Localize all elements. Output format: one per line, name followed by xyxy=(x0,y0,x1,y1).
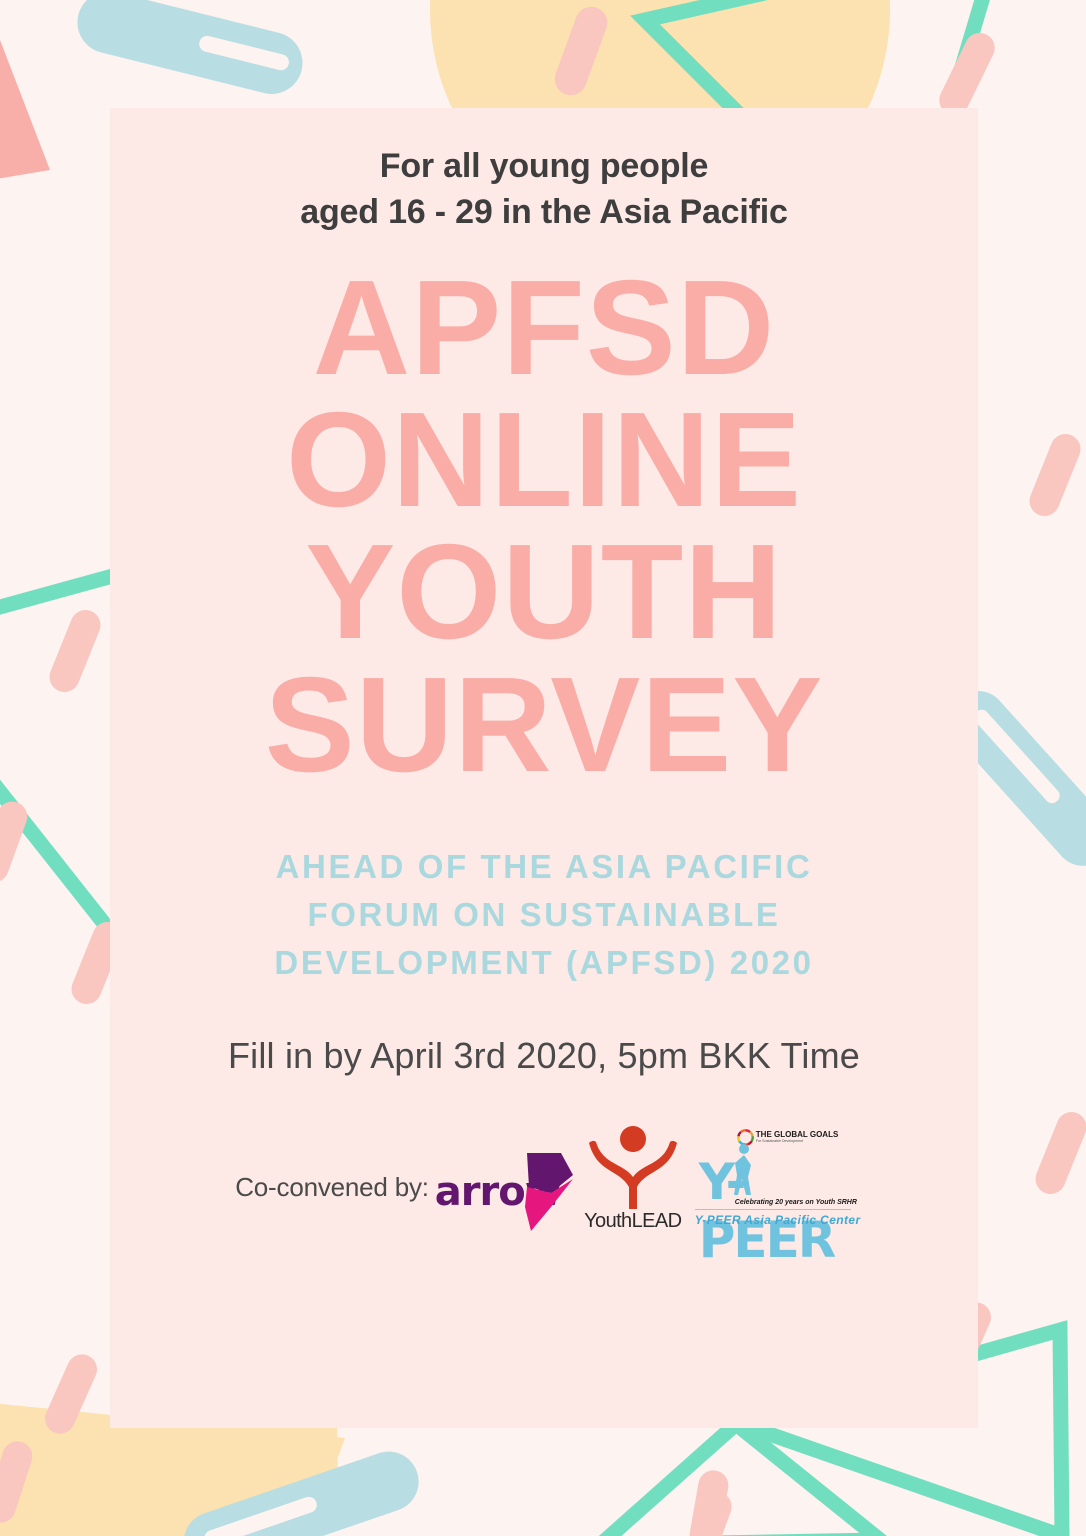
pink-triangle-left-top xyxy=(0,40,50,190)
logo-youthlead[interactable]: YouthLEAD xyxy=(579,1123,687,1233)
page-title: APFSD ONLINE YOUTH SURVEY xyxy=(104,262,984,791)
pink-capsule-1 xyxy=(550,2,612,99)
global-goals-line2: For Sustainable Development xyxy=(756,1140,839,1144)
ypeer-figure-icon xyxy=(731,1143,757,1199)
global-goals-line1: THE GLOBAL GOALS xyxy=(756,1131,839,1139)
youthlead-wordmark: YouthLEAD xyxy=(579,1210,687,1233)
co-convener-logos: Co-convened by: arrow YouthLEAD xyxy=(110,1123,978,1233)
paperclip-icon-top-left xyxy=(71,0,309,101)
pink-capsule-13 xyxy=(687,1468,730,1536)
youthlead-person-icon xyxy=(579,1123,687,1211)
logo-ypeer[interactable]: THE GLOBAL GOALS For Sustainable Develop… xyxy=(693,1129,853,1233)
deadline-text: Fill in by April 3rd 2020, 5pm BKK Time xyxy=(228,1035,860,1077)
poster-content: For all young people aged 16 - 29 in the… xyxy=(110,108,978,1428)
subtitle: AHEAD OF THE ASIA PACIFIC FORUM ON SUSTA… xyxy=(274,843,813,987)
teal-triangle-bottom-right-2 xyxy=(600,1424,880,1536)
global-goals-text: THE GLOBAL GOALS For Sustainable Develop… xyxy=(756,1131,839,1144)
ypeer-tagline: Celebrating 20 years on Youth SRHR xyxy=(735,1199,857,1206)
co-convened-label: Co-convened by: xyxy=(235,1172,435,1233)
pink-capsule-7 xyxy=(0,797,31,886)
pink-capsule-11 xyxy=(678,1487,736,1536)
pink-capsule-5 xyxy=(1025,430,1085,521)
arrow-mark-icon xyxy=(521,1149,577,1235)
pink-capsule-14 xyxy=(0,1437,36,1526)
pink-capsule-6 xyxy=(45,606,105,697)
ypeer-center-label: Y-PEER Asia Pacific Center xyxy=(695,1213,851,1227)
logo-arrow[interactable]: arrow xyxy=(435,1147,575,1233)
pink-capsule-2 xyxy=(934,28,1000,120)
ypeer-divider xyxy=(695,1209,851,1210)
pink-capsule-9 xyxy=(1031,1108,1086,1199)
poster-canvas: For all young people aged 16 - 29 in the… xyxy=(0,0,1086,1536)
pink-capsule-12 xyxy=(40,1350,102,1439)
ypeer-wordmark: Y-PEER xyxy=(699,1153,853,1269)
audience-eyebrow: For all young people aged 16 - 29 in the… xyxy=(300,144,787,236)
paperclip-icon-bottom-left xyxy=(176,1443,427,1536)
